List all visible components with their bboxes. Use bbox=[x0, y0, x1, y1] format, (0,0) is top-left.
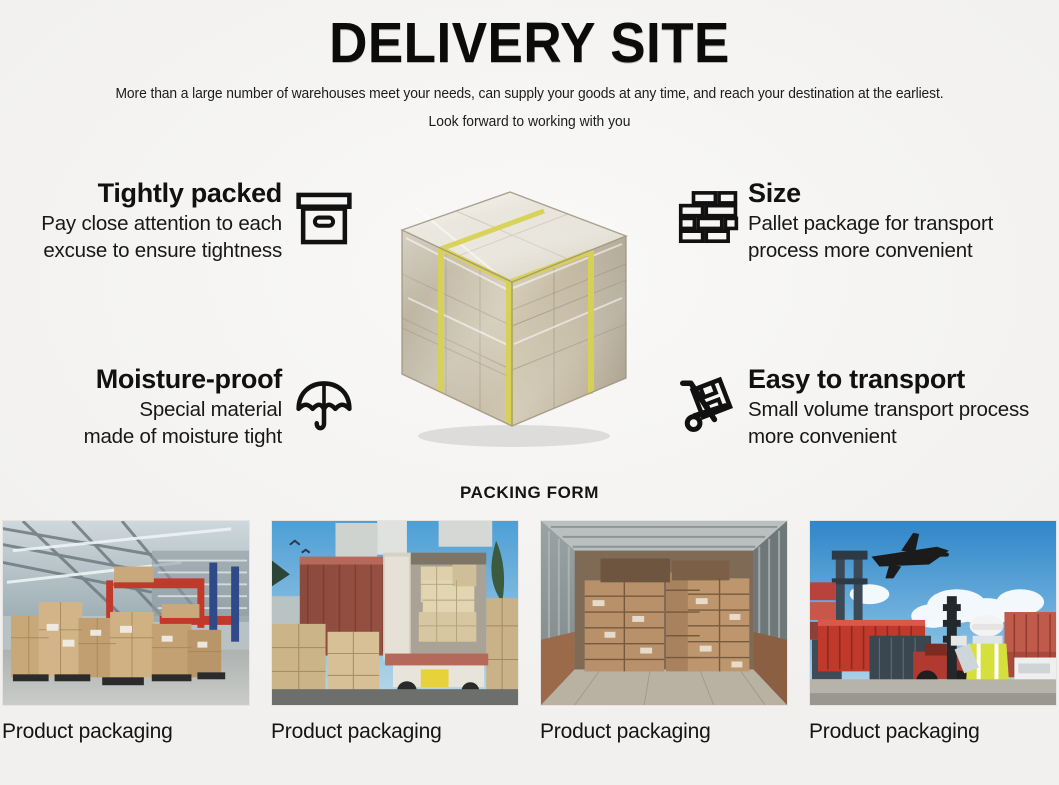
packing-form-gallery: Product packaging bbox=[0, 520, 1059, 744]
page-title: DELIVERY SITE bbox=[37, 0, 1022, 74]
hand-truck-icon bbox=[670, 364, 748, 434]
container-loading-photo[interactable] bbox=[271, 520, 519, 706]
feature-text: Size Pallet package for transport proces… bbox=[748, 178, 1059, 263]
gallery-item[interactable]: Product packaging bbox=[2, 520, 250, 744]
feature-title: Size bbox=[748, 178, 1059, 209]
brick-wall-icon bbox=[670, 178, 748, 245]
feature-tightly-packed: Tightly packed Pay close attention to ea… bbox=[0, 178, 366, 263]
feature-desc-line2: made of moisture tight bbox=[0, 422, 282, 449]
delivery-site-banner: DELIVERY SITE More than a large number o… bbox=[0, 0, 1059, 785]
feature-text: Tightly packed Pay close attention to ea… bbox=[0, 178, 282, 263]
header-subtitle-line1: More than a large number of warehouses m… bbox=[16, 74, 1043, 102]
gallery-item[interactable]: Product packaging bbox=[809, 520, 1057, 744]
feature-title: Tightly packed bbox=[0, 178, 282, 209]
feature-size: Size Pallet package for transport proces… bbox=[670, 178, 1059, 263]
packing-form-heading: PACKING FORM bbox=[0, 483, 1059, 503]
feature-desc-line1: Pay close attention to each bbox=[0, 209, 282, 236]
feature-moisture-proof: Moisture-proof Special material made of … bbox=[0, 364, 366, 449]
gallery-caption: Product packaging bbox=[540, 706, 788, 744]
gallery-item[interactable]: Product packaging bbox=[540, 520, 788, 744]
archive-box-icon bbox=[282, 178, 366, 245]
header: DELIVERY SITE More than a large number o… bbox=[0, 0, 1059, 130]
feature-desc-line2: process more convenient bbox=[748, 236, 1059, 263]
gallery-item[interactable]: Product packaging bbox=[271, 520, 519, 744]
gallery-caption: Product packaging bbox=[271, 706, 519, 744]
warehouse-interior-photo[interactable] bbox=[2, 520, 250, 706]
gallery-caption: Product packaging bbox=[809, 706, 1057, 744]
feature-desc-line1: Special material bbox=[0, 395, 282, 422]
feature-text: Moisture-proof Special material made of … bbox=[0, 364, 282, 449]
header-subtitle-line2: Look forward to working with you bbox=[16, 102, 1043, 130]
feature-desc-line1: Pallet package for transport bbox=[748, 209, 1059, 236]
feature-title: Easy to transport bbox=[748, 364, 1059, 395]
wrapped-pallet-photo bbox=[382, 178, 640, 455]
container-interior-photo[interactable] bbox=[540, 520, 788, 706]
gallery-caption: Product packaging bbox=[2, 706, 250, 744]
port-yard-photo[interactable] bbox=[809, 520, 1057, 706]
feature-desc-line1: Small volume transport process bbox=[748, 395, 1059, 422]
feature-easy-to-transport: Easy to transport Small volume transport… bbox=[670, 364, 1059, 449]
umbrella-icon bbox=[282, 364, 366, 436]
feature-text: Easy to transport Small volume transport… bbox=[748, 364, 1059, 449]
feature-title: Moisture-proof bbox=[0, 364, 282, 395]
feature-desc-line2: more convenient bbox=[748, 422, 1059, 449]
feature-desc-line2: excuse to ensure tightness bbox=[0, 236, 282, 263]
